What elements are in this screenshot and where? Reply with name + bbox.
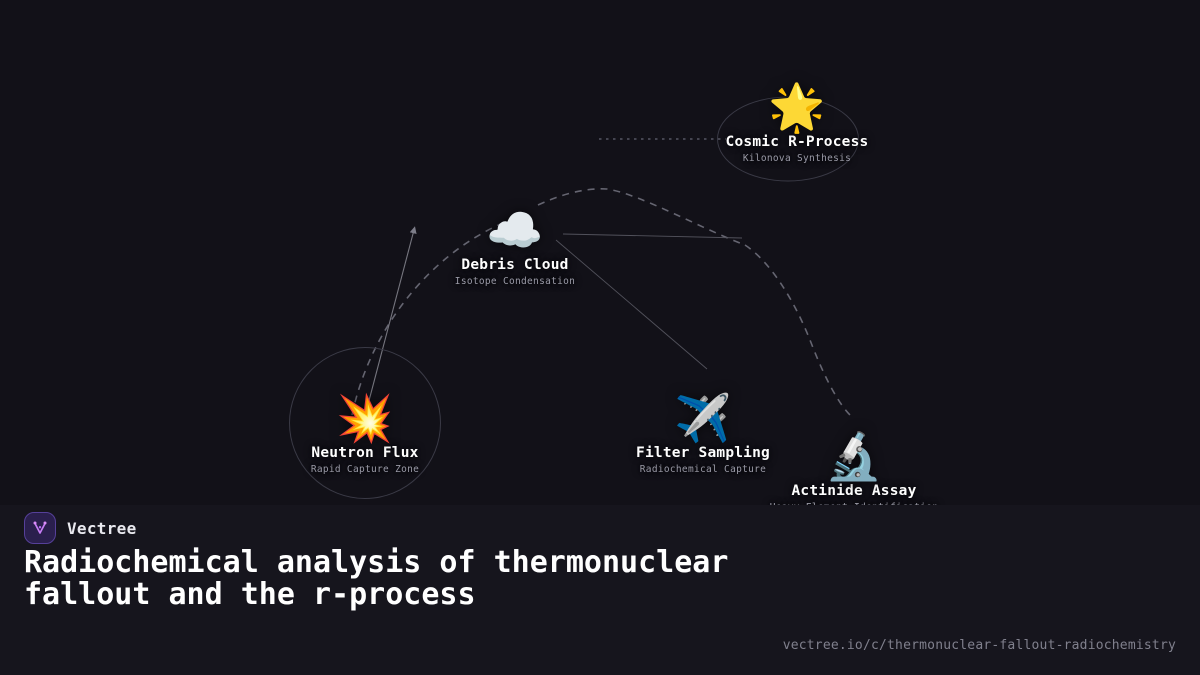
microscope-icon: 🔬 <box>770 431 939 481</box>
edge-debris-to-cosmic-straight <box>563 234 742 238</box>
node-label: Filter Sampling <box>636 445 770 461</box>
node-sublabel: Isotope Condensation <box>455 276 575 287</box>
glowing-star-icon: 🌟 <box>726 82 869 132</box>
node-label: Debris Cloud <box>455 257 575 273</box>
graph-node-debris-cloud[interactable]: ☁️ Debris Cloud Isotope Condensation <box>455 205 575 287</box>
node-label: Neutron Flux <box>311 445 419 461</box>
graph-node-neutron-flux[interactable]: 💥 Neutron Flux Rapid Capture Zone <box>311 393 419 475</box>
node-sublabel: Radiochemical Capture <box>636 464 770 475</box>
page-title: Radiochemical analysis of thermonuclear … <box>24 547 744 611</box>
cloud-icon: ☁️ <box>455 205 575 255</box>
node-sublabel: Kilonova Synthesis <box>726 153 869 164</box>
edge-debris-to-filter <box>556 240 707 369</box>
node-sublabel: Rapid Capture Zone <box>311 464 419 475</box>
vectree-logo-icon <box>24 512 56 544</box>
bottom-info-panel: Vectree Radiochemical analysis of thermo… <box>0 505 1200 675</box>
graph-node-actinide-assay[interactable]: 🔬 Actinide Assay Heavy Element Identific… <box>770 431 939 513</box>
edge-neutron-to-debris-solid <box>366 230 414 412</box>
node-label: Cosmic R-Process <box>726 134 869 150</box>
page-url: vectree.io/c/thermonuclear-fallout-radio… <box>783 638 1176 653</box>
node-label: Actinide Assay <box>770 483 939 499</box>
graph-node-cosmic-r-process[interactable]: 🌟 Cosmic R-Process Kilonova Synthesis <box>726 82 869 164</box>
edge-debris-to-actinide <box>745 245 850 415</box>
brand-name: Vectree <box>67 519 137 538</box>
graph-node-filter-sampling[interactable]: ✈️ Filter Sampling Radiochemical Capture <box>636 393 770 475</box>
collision-icon: 💥 <box>311 393 419 443</box>
screenshot-root: 🌟 Cosmic R-Process Kilonova Synthesis ☁️… <box>0 0 1200 675</box>
brand-row[interactable]: Vectree <box>24 512 137 544</box>
airplane-icon: ✈️ <box>636 393 770 443</box>
